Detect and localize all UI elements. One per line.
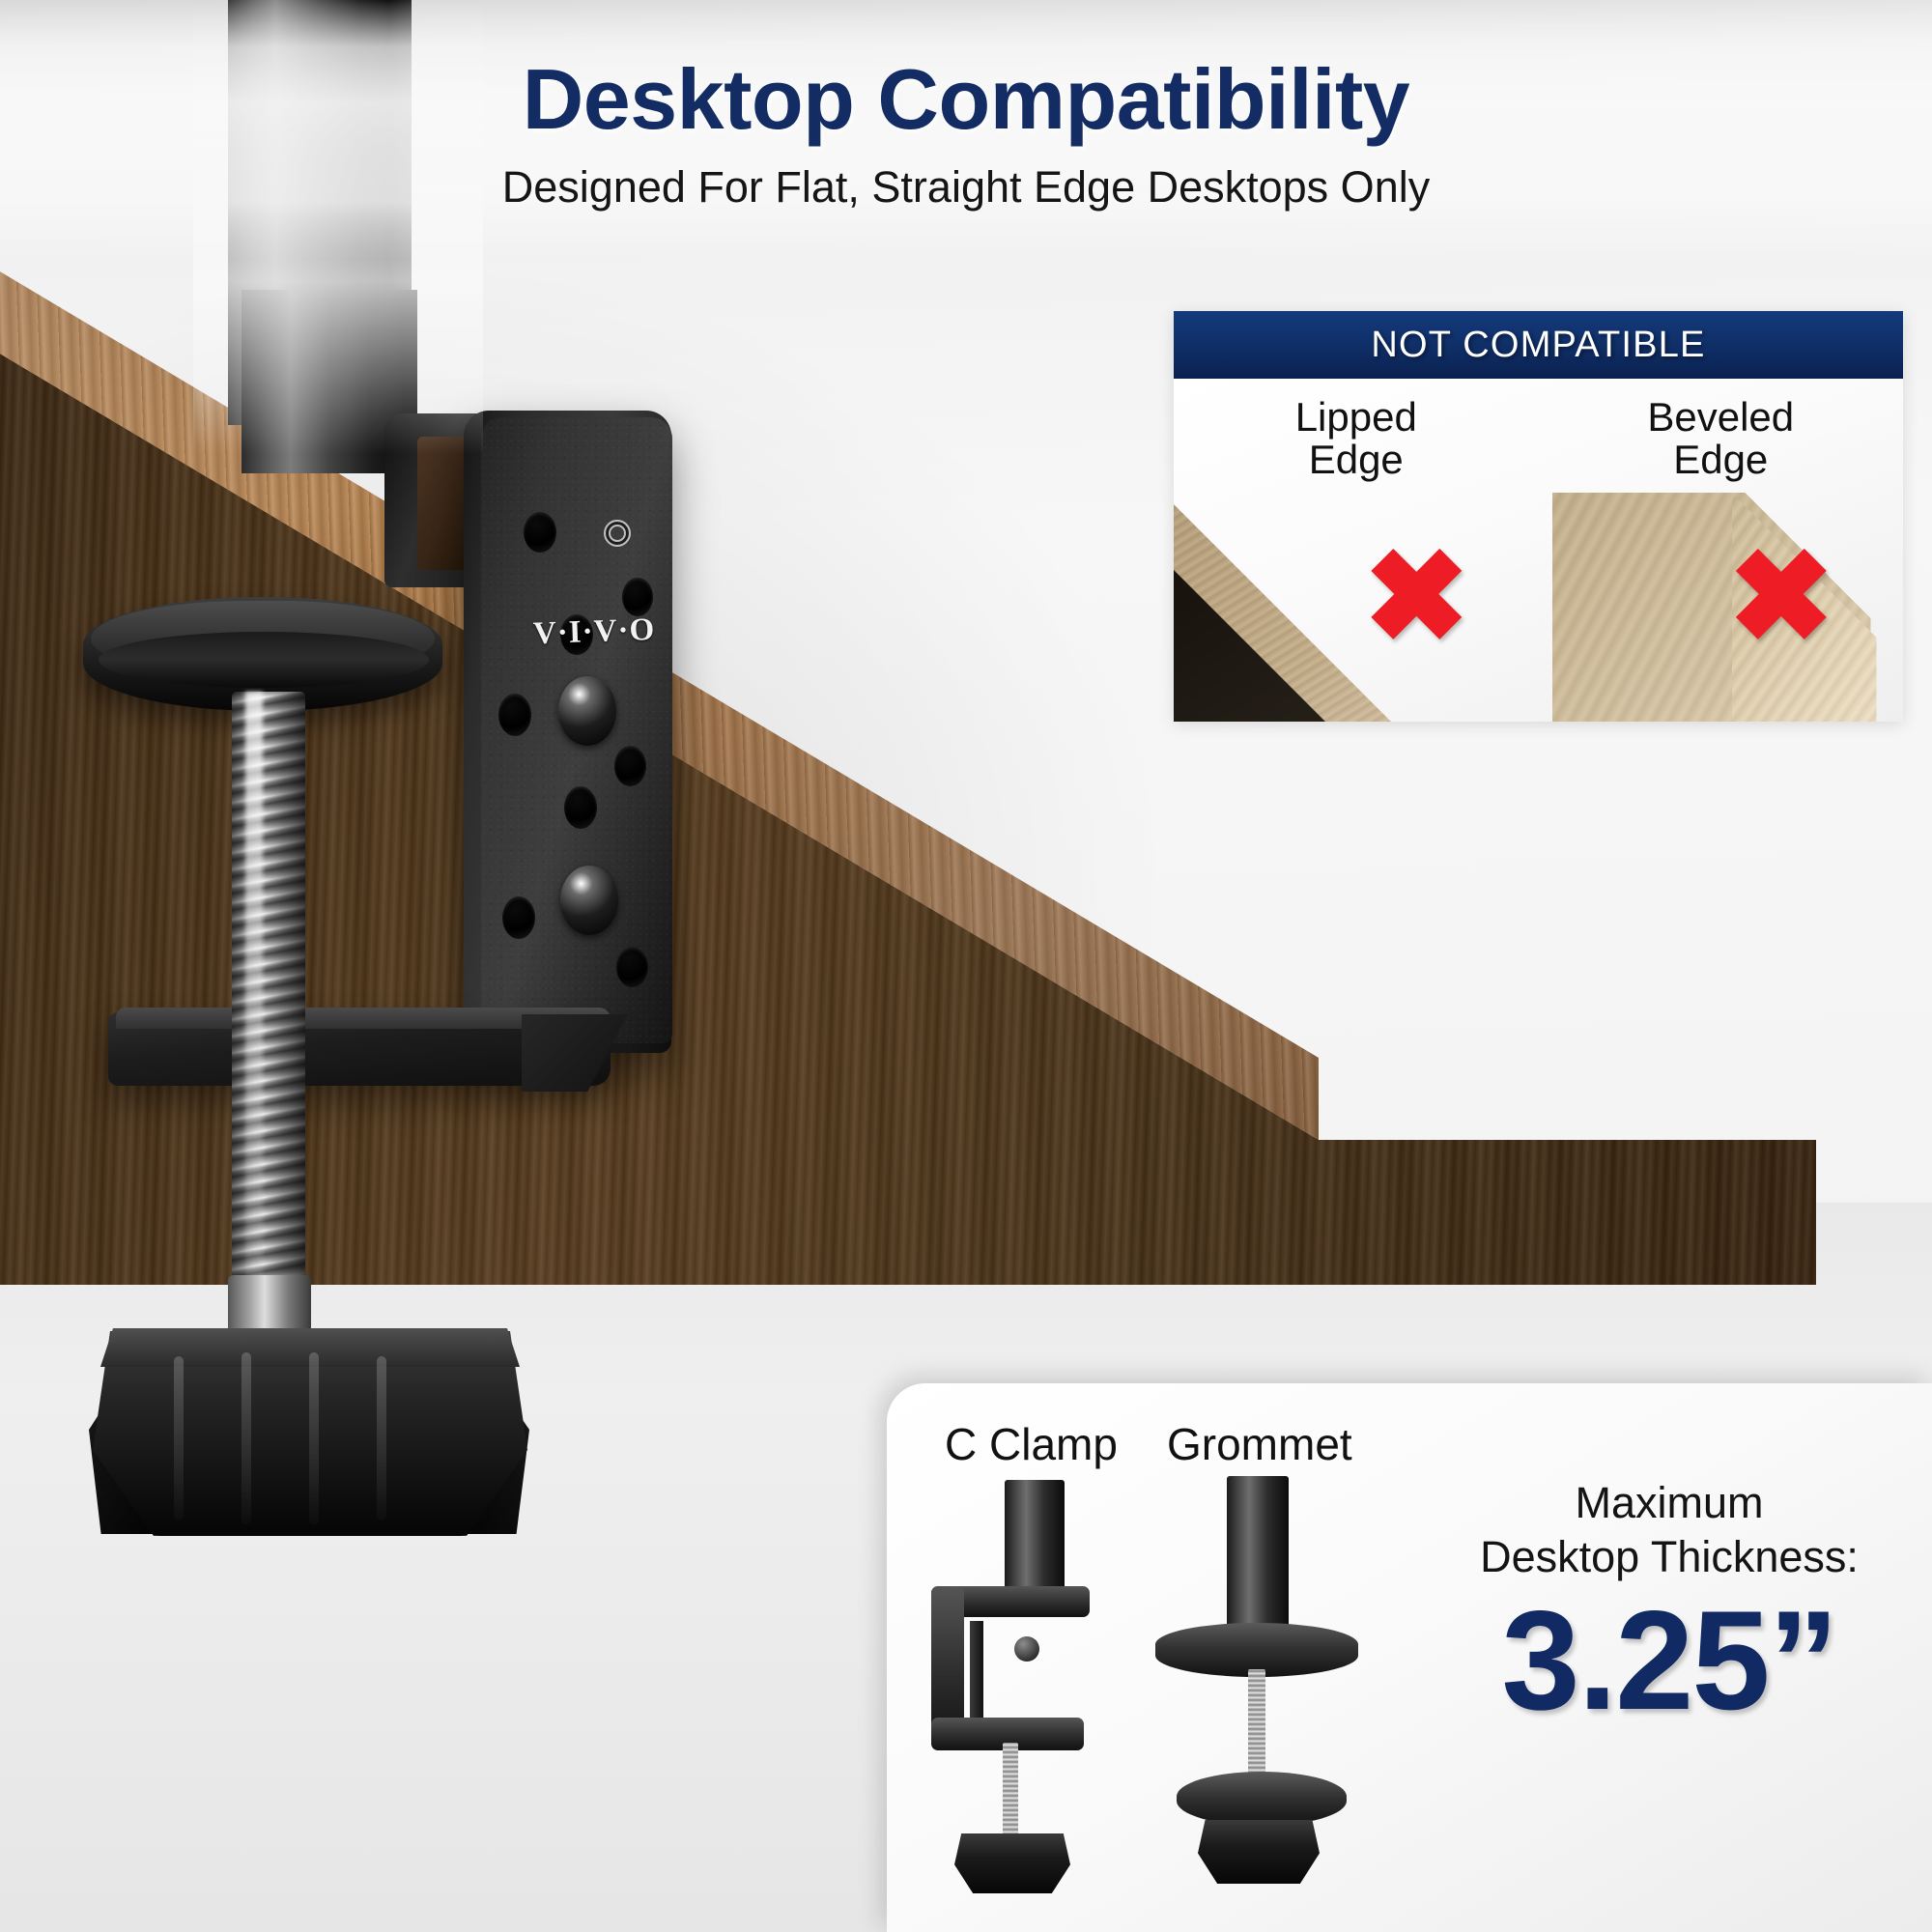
max-thickness-block: Maximum Desktop Thickness: 3.25” [1428,1476,1911,1731]
clamp-pressure-pad-rim [99,632,429,688]
c-clamp-label: C Clamp [945,1418,1118,1470]
clamp-hole [614,746,646,786]
page-title: Desktop Compatibility [0,50,1932,149]
beveled-edge-x-icon: ✖ [1728,551,1829,651]
clamp-threaded-screw [232,692,305,1291]
vivo-brand-mark: V·I·V·O [532,612,655,652]
lipped-edge-label-line2: Edge [1174,439,1539,481]
clamp-knob-flute [241,1352,251,1524]
grommet-label: Grommet [1167,1418,1352,1470]
lipped-edge-x-icon: ✖ [1363,551,1463,651]
clamp-hole [616,947,648,987]
clamp-hole [524,512,556,553]
not-compatible-title: NOT COMPATIBLE [1371,325,1705,366]
max-thickness-value: 3.25” [1428,1590,1911,1731]
clamp-dome-boss [560,866,618,935]
lipped-edge-label-line1: Lipped [1174,396,1539,439]
not-compatible-body: Lipped Edge ✖ Beveled Edge ✖ [1174,379,1903,722]
grommet-knob [1198,1820,1320,1884]
not-compatible-panel: NOT COMPATIBLE Lipped Edge ✖ Beveled Edg… [1174,311,1903,722]
beveled-edge-label-line1: Beveled [1539,396,1904,439]
c-clamp-web [970,1621,983,1718]
beveled-edge-label: Beveled Edge [1539,379,1904,481]
lipped-edge-label: Lipped Edge [1174,379,1539,481]
clamp-hole [502,896,535,939]
clamp-dome-boss [558,676,616,746]
clamp-knob-flute [309,1352,319,1524]
c-clamp-knob [954,1833,1070,1893]
not-compatible-item-lipped-edge: Lipped Edge ✖ [1174,379,1539,722]
c-clamp-dome-icon [1014,1636,1039,1662]
clamp-hole [564,786,597,829]
clamp-screw-highlight [245,692,263,1291]
infographic-canvas: V·I·V·O Desktop Compatibility Designed F… [0,0,1932,1932]
vivo-logo-circle-icon [604,520,631,547]
clamp-hole [622,578,653,616]
header-block: Desktop Compatibility Designed For Flat,… [0,50,1932,213]
clamp-knob-flute [174,1356,184,1520]
c-clamp-pole [1005,1480,1065,1594]
max-thickness-line2: Desktop Thickness: [1428,1530,1911,1584]
clamp-hole [498,694,531,736]
max-thickness-line1: Maximum [1428,1476,1911,1530]
not-compatible-item-beveled-edge: Beveled Edge ✖ [1539,379,1904,722]
mount-types-card: C Clamp Grommet Maximum Desktop Thicknes… [887,1383,1932,1932]
grommet-bottom-washer [1177,1772,1347,1826]
not-compatible-header: NOT COMPATIBLE [1174,311,1903,379]
beveled-edge-label-line2: Edge [1539,439,1904,481]
clamp-knob-flute [377,1356,386,1520]
page-subtitle: Designed For Flat, Straight Edge Desktop… [0,162,1932,213]
grommet-pole [1227,1476,1289,1640]
